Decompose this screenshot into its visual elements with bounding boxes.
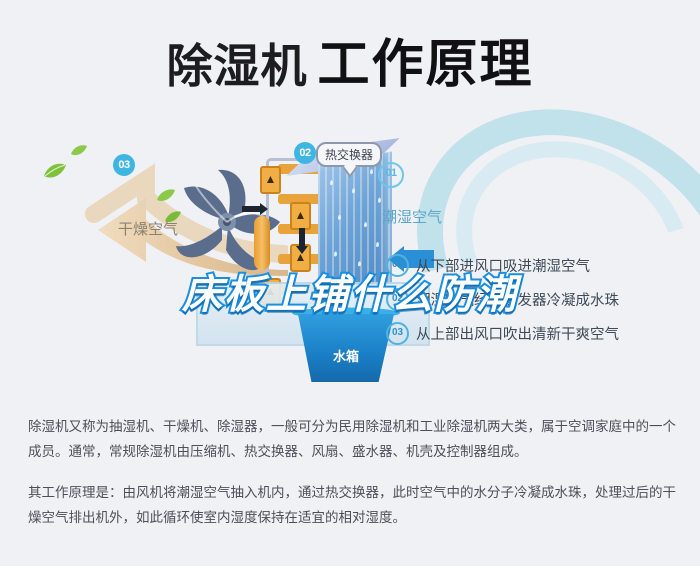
callout-heat-exchanger: 热交换器 bbox=[316, 142, 382, 167]
compressor-cylinder bbox=[254, 216, 270, 270]
internal-flow-arrow-icon bbox=[296, 228, 308, 259]
paragraph-2: 其工作原理是：由风机将潮湿空气抽入机内，通过热交换器，此时空气中的水分子冷凝成水… bbox=[28, 480, 676, 530]
airflow-up-arrow-icon: ▲ bbox=[260, 166, 281, 194]
airflow-up-arrow-icon: ▲ bbox=[290, 202, 311, 230]
water-tank-label: 水箱 bbox=[292, 346, 400, 365]
label-humid-air: 潮湿空气 bbox=[382, 206, 442, 227]
list-item: 01 从下部进风口吸进潮湿空气 bbox=[386, 248, 686, 282]
steps-list: 01 从下部进风口吸进潮湿空气 02 潮湿空气经过蒸发器冷凝成水珠 03 从上部… bbox=[386, 248, 686, 350]
title-part-2: 工作原理 bbox=[317, 36, 533, 94]
list-item: 02 潮湿空气经过蒸发器冷凝成水珠 bbox=[386, 282, 686, 316]
step-number: 02 bbox=[386, 288, 409, 311]
paragraph-1: 除湿机又称为抽湿机、干燥机、除湿器，一般可分为民用除湿机和工业除湿机两大类，属于… bbox=[28, 414, 676, 464]
page-title: 除湿机工作原理 bbox=[0, 22, 700, 97]
leaf-icon bbox=[42, 162, 68, 180]
step-number: 01 bbox=[386, 254, 409, 277]
step-text: 潮湿空气经过蒸发器冷凝成水珠 bbox=[416, 289, 619, 310]
list-item: 03 从上部出风口吹出清新干爽空气 bbox=[386, 316, 686, 350]
title-part-1: 除湿机 bbox=[166, 40, 307, 92]
body-copy: 除湿机又称为抽湿机、干燥机、除湿器，一般可分为民用除湿机和工业除湿机两大类，属于… bbox=[28, 414, 676, 536]
badge-02-heat-exchanger: 02 bbox=[294, 142, 316, 164]
leaf-icon bbox=[70, 144, 88, 157]
step-number: 03 bbox=[386, 322, 409, 345]
badge-03-dry-air: 03 bbox=[113, 154, 135, 176]
internal-flow-arrow-icon bbox=[242, 202, 268, 220]
step-text: 从上部出风口吹出清新干爽空气 bbox=[416, 323, 619, 344]
step-text: 从下部进风口吸进潮湿空气 bbox=[416, 255, 590, 276]
badge-01-humid-air: 01 bbox=[378, 162, 404, 188]
label-dry-air: 干燥空气 bbox=[118, 218, 178, 239]
infographic-page: 除湿机工作原理 bbox=[0, 0, 700, 566]
